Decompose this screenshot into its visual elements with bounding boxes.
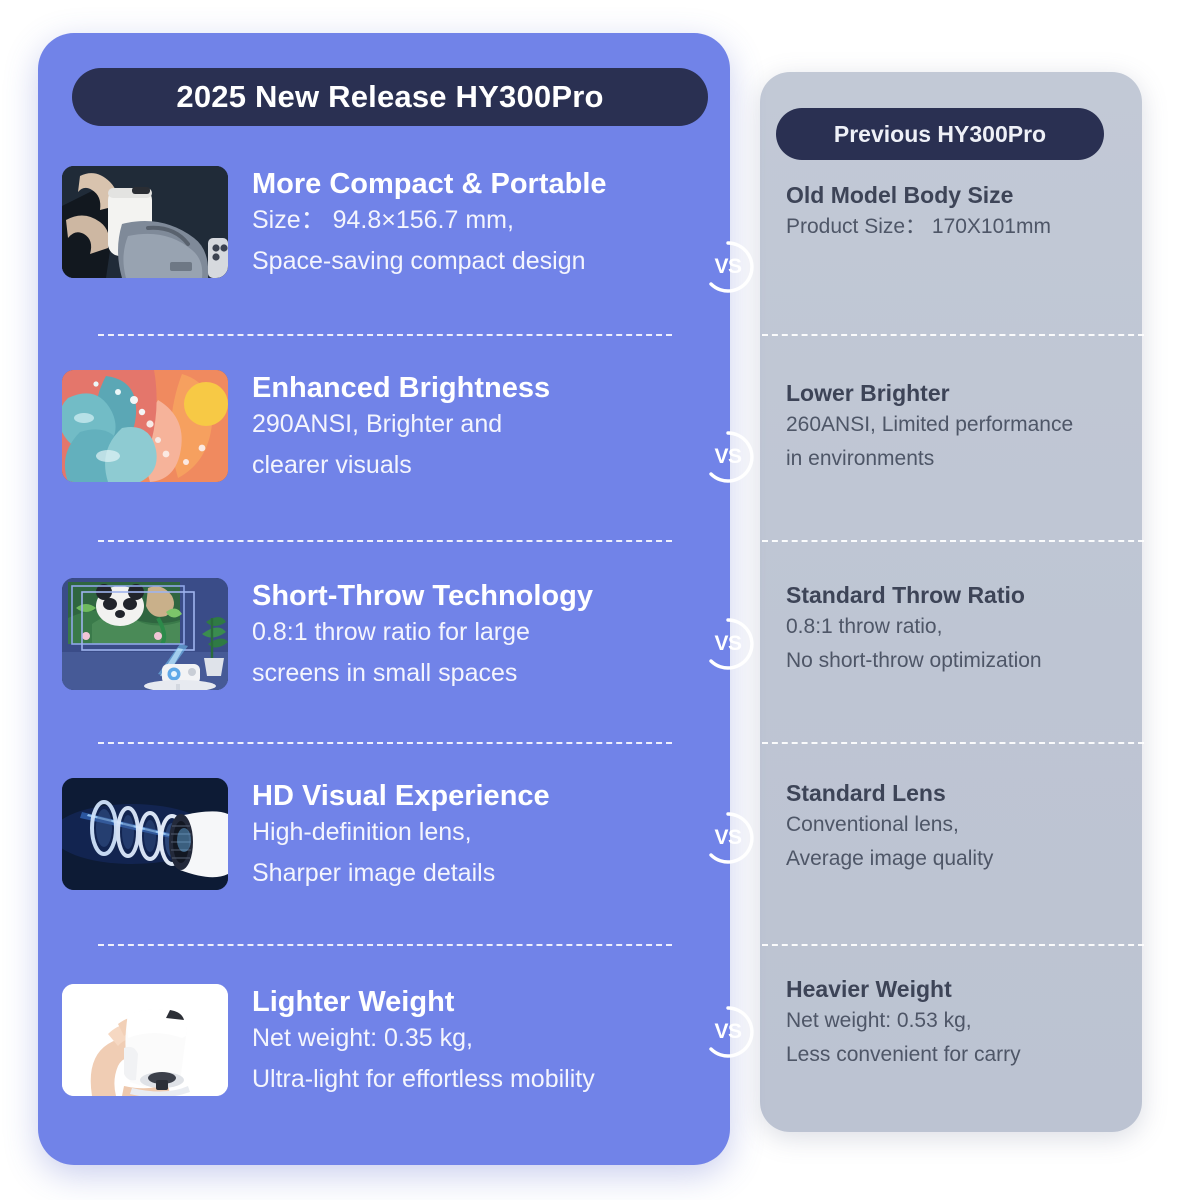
old-feature-row-5: Heavier Weight Net weight: 0.53 kg, Less… xyxy=(786,976,1136,1072)
vs-badge-1: VS xyxy=(700,239,756,295)
new-model-title-badge: 2025 New Release HY300Pro xyxy=(72,68,708,126)
new-feature-line1-3: 0.8:1 throw ratio for large xyxy=(252,612,593,653)
previous-model-title-badge: Previous HY300Pro xyxy=(776,108,1104,160)
old-feature-line2-2: in environments xyxy=(786,442,1136,476)
old-feature-line2-3: No short-throw optimization xyxy=(786,644,1136,678)
comparison-infographic: 2025 New Release HY300Pro Previous HY300… xyxy=(0,0,1200,1200)
new-feature-line2-2: clearer visuals xyxy=(252,445,550,486)
old-feature-row-2: Lower Brighter 260ANSI, Limited performa… xyxy=(786,380,1136,476)
old-feature-line1-1: Product Size： 170X101mm xyxy=(786,210,1136,244)
new-feature-line2-3: screens in small spaces xyxy=(252,653,593,694)
new-feature-row-3: Short-Throw Technology 0.8:1 throw ratio… xyxy=(62,578,702,693)
old-feature-title-2: Lower Brighter xyxy=(786,380,1136,408)
old-divider-1 xyxy=(762,334,1144,336)
old-divider-4 xyxy=(762,944,1144,946)
new-feature-line2-1: Space-saving compact design xyxy=(252,241,607,282)
new-feature-line2-4: Sharper image details xyxy=(252,853,550,894)
vs-badge-2: VS xyxy=(700,429,756,485)
new-feature-row-4: HD Visual Experience High-definition len… xyxy=(62,778,702,893)
new-feature-line1-5: Net weight: 0.35 kg, xyxy=(252,1018,595,1059)
vs-badge-label-1: VS xyxy=(700,239,756,295)
new-feature-text-5: Lighter Weight Net weight: 0.35 kg, Ultr… xyxy=(252,984,595,1099)
new-feature-title-2: Enhanced Brightness xyxy=(252,372,550,404)
old-divider-2 xyxy=(762,540,1144,542)
old-feature-row-3: Standard Throw Ratio 0.8:1 throw ratio, … xyxy=(786,582,1136,678)
new-feature-line2-5: Ultra-light for effortless mobility xyxy=(252,1059,595,1100)
vs-badge-label-3: VS xyxy=(700,616,756,672)
old-feature-line2-4: Average image quality xyxy=(786,842,1136,876)
vs-badge-label-4: VS xyxy=(700,810,756,866)
new-feature-text-3: Short-Throw Technology 0.8:1 throw ratio… xyxy=(252,578,593,693)
old-feature-line2-5: Less convenient for carry xyxy=(786,1038,1136,1072)
new-feature-row-5: Lighter Weight Net weight: 0.35 kg, Ultr… xyxy=(62,984,702,1099)
vs-badge-label-5: VS xyxy=(700,1004,756,1060)
old-feature-line1-2: 260ANSI, Limited performance xyxy=(786,408,1136,442)
old-feature-line1-5: Net weight: 0.53 kg, xyxy=(786,1004,1136,1038)
old-feature-line1-4: Conventional lens, xyxy=(786,808,1136,842)
old-feature-title-1: Old Model Body Size xyxy=(786,182,1136,210)
projector-panda-screen-photo xyxy=(62,578,228,690)
vs-badge-5: VS xyxy=(700,1004,756,1060)
old-divider-3 xyxy=(762,742,1144,744)
new-feature-row-1: More Compact & Portable Size： 94.8×156.7… xyxy=(62,166,702,281)
new-feature-title-5: Lighter Weight xyxy=(252,986,595,1018)
old-feature-title-4: Standard Lens xyxy=(786,780,1136,808)
new-feature-title-4: HD Visual Experience xyxy=(252,780,550,812)
new-feature-text-2: Enhanced Brightness 290ANSI, Brighter an… xyxy=(252,370,550,485)
vs-badge-label-2: VS xyxy=(700,429,756,485)
new-feature-row-2: Enhanced Brightness 290ANSI, Brighter an… xyxy=(62,370,702,485)
new-feature-line1-2: 290ANSI, Brighter and xyxy=(252,404,550,445)
new-divider-2 xyxy=(98,540,672,542)
old-feature-title-5: Heavier Weight xyxy=(786,976,1136,1004)
previous-model-title-text: Previous HY300Pro xyxy=(834,121,1046,148)
old-feature-title-3: Standard Throw Ratio xyxy=(786,582,1136,610)
projector-in-backpack-photo xyxy=(62,166,228,278)
new-feature-line1-4: High-definition lens, xyxy=(252,812,550,853)
new-feature-title-3: Short-Throw Technology xyxy=(252,580,593,612)
new-divider-4 xyxy=(98,944,672,946)
old-feature-line1-3: 0.8:1 throw ratio, xyxy=(786,610,1136,644)
vs-badge-3: VS xyxy=(700,616,756,672)
exploded-lens-elements-photo xyxy=(62,778,228,890)
new-feature-text-1: More Compact & Portable Size： 94.8×156.7… xyxy=(252,166,607,281)
hand-holding-projector-photo xyxy=(62,984,228,1096)
new-feature-text-4: HD Visual Experience High-definition len… xyxy=(252,778,550,893)
new-feature-line1-1: Size： 94.8×156.7 mm, xyxy=(252,200,607,241)
vs-badge-4: VS xyxy=(700,810,756,866)
new-divider-3 xyxy=(98,742,672,744)
old-feature-row-4: Standard Lens Conventional lens, Average… xyxy=(786,780,1136,876)
old-feature-row-1: Old Model Body Size Product Size： 170X10… xyxy=(786,182,1136,244)
new-divider-1 xyxy=(98,334,672,336)
new-model-title-text: 2025 New Release HY300Pro xyxy=(176,79,603,115)
new-feature-title-1: More Compact & Portable xyxy=(252,168,607,200)
colorful-glossy-flowers-photo xyxy=(62,370,228,482)
